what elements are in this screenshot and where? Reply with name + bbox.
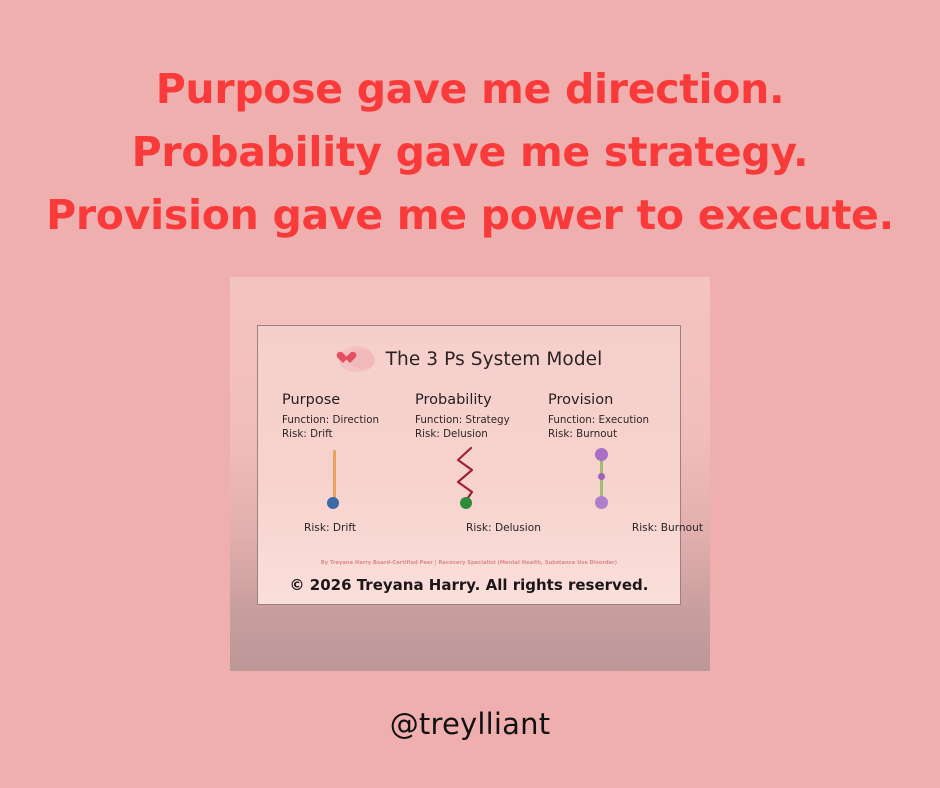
purple-dot-bottom xyxy=(595,496,608,509)
column-purpose: Purpose Function: Direction Risk: Drift xyxy=(282,392,415,441)
glyph-zigzag-line-with-dot xyxy=(415,444,548,524)
social-handle: @treylliant xyxy=(0,707,940,741)
column-risk: Risk: Drift xyxy=(282,427,415,441)
column-heading: Probability xyxy=(415,392,548,408)
glyph-segmented-line-with-dots xyxy=(548,444,681,524)
column-risk: Risk: Delusion xyxy=(415,427,548,441)
column-function: Function: Direction xyxy=(282,413,415,427)
column-heading: Purpose xyxy=(282,392,415,408)
headline: Purpose gave me direction. Probability g… xyxy=(0,58,940,247)
column-heading: Provision xyxy=(548,392,681,408)
risk-label-drift: Risk: Drift xyxy=(282,522,437,534)
heart-icon xyxy=(343,352,356,364)
glyph-row xyxy=(282,444,670,524)
card-title-row: The 3 Ps System Model xyxy=(258,344,680,374)
credit-line: By Treyana Harry Board-Certified Peer | … xyxy=(258,560,680,566)
embedded-image-panel: The 3 Ps System Model Purpose Function: … xyxy=(230,277,710,671)
column-provision: Provision Function: Execution Risk: Burn… xyxy=(548,392,681,441)
green-dot xyxy=(460,497,472,509)
blue-dot xyxy=(327,497,339,509)
copyright-line: © 2026 Treyana Harry. All rights reserve… xyxy=(258,576,680,594)
purple-dot-middle xyxy=(598,473,605,480)
model-title: The 3 Ps System Model xyxy=(386,349,603,370)
column-function: Function: Strategy xyxy=(415,413,548,427)
orange-line xyxy=(333,450,336,502)
risk-label-burnout: Risk: Burnout xyxy=(570,522,711,534)
columns: Purpose Function: Direction Risk: Drift … xyxy=(282,392,670,441)
risk-label-delusion: Risk: Delusion xyxy=(437,522,570,534)
column-function: Function: Execution xyxy=(548,413,681,427)
headline-line-2: Probability gave me strategy. xyxy=(0,121,940,184)
headline-line-1: Purpose gave me direction. xyxy=(0,58,940,121)
column-risk: Risk: Burnout xyxy=(548,427,681,441)
model-card: The 3 Ps System Model Purpose Function: … xyxy=(257,325,681,605)
glyph-straight-line-with-dot xyxy=(282,444,415,524)
column-probability: Probability Function: Strategy Risk: Del… xyxy=(415,392,548,441)
risk-label-row: Risk: Drift Risk: Delusion Risk: Burnout xyxy=(282,522,670,534)
headline-line-3: Provision gave me power to execute. xyxy=(0,184,940,247)
purple-dot-top xyxy=(595,448,608,461)
brain-heart-logo-icon xyxy=(336,344,378,374)
